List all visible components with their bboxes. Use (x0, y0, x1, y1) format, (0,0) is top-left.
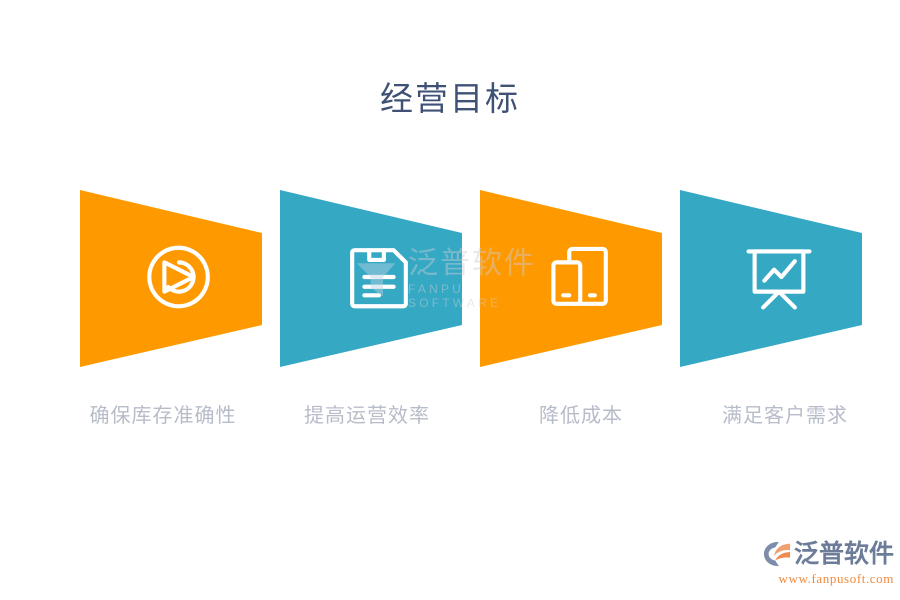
slide-canvas: 经营目标 (0, 0, 900, 600)
arrow-trapezoid-shape (62, 186, 262, 371)
goal-step-2-label: 提高运营效率 (252, 404, 482, 428)
goal-step-4[interactable] (662, 186, 862, 371)
goal-steps-row: 确保库存准确性 提高运营效率 降低成本 满足客户需求 (0, 0, 900, 600)
arrow-trapezoid-shape (262, 186, 462, 371)
goal-step-1-label: 确保库存准确性 (48, 404, 278, 428)
arrow-trapezoid-shape (462, 186, 662, 371)
goal-step-1[interactable] (62, 186, 262, 371)
logo-cn-text: 泛普软件 (794, 542, 894, 567)
goal-step-3-label: 降低成本 (466, 404, 696, 428)
goal-step-3[interactable] (462, 186, 662, 371)
fanpu-logo-icon (762, 540, 792, 568)
goal-step-4-label: 满足客户需求 (670, 404, 900, 428)
logo-url-text: www.fanpusoft.com (762, 572, 894, 585)
arrow-trapezoid-shape (662, 186, 862, 371)
goal-step-2[interactable] (262, 186, 462, 371)
fanpu-corner-logo: 泛普软件 www.fanpusoft.com (762, 540, 894, 590)
